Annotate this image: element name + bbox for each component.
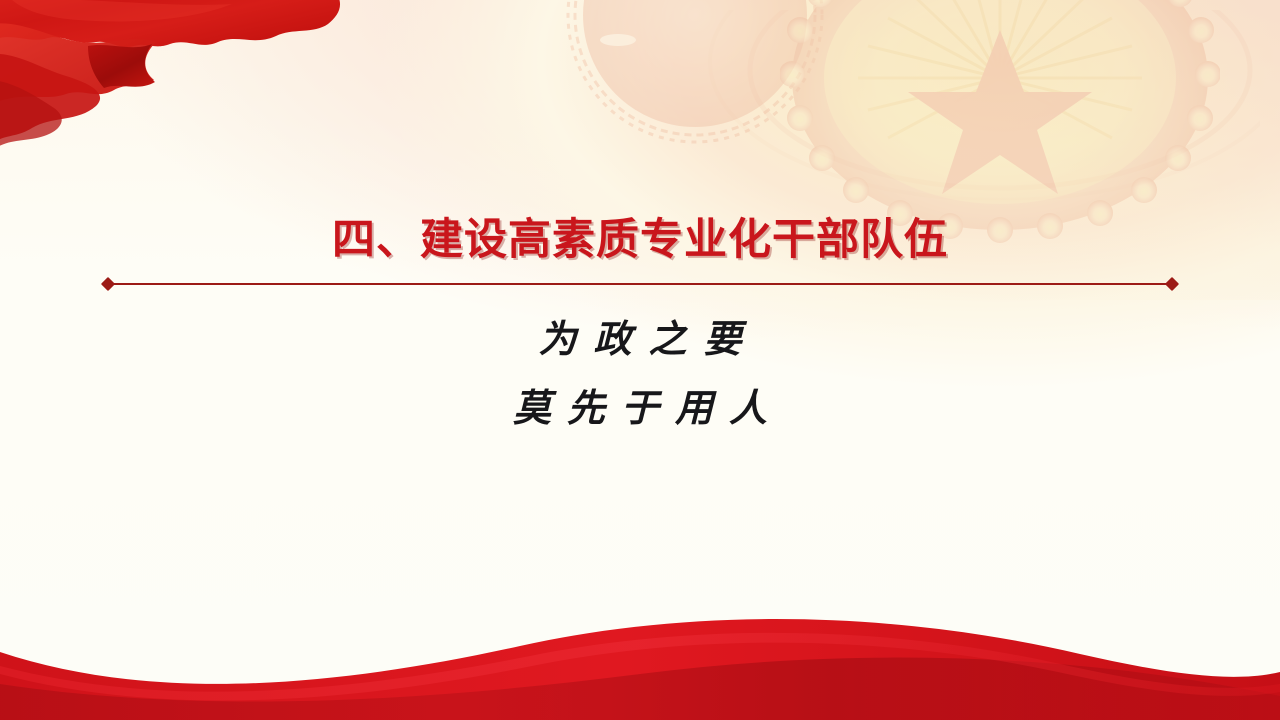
divider (103, 276, 1177, 292)
red-wave-decoration (0, 610, 1280, 720)
presentation-slide: 四、建设高素质专业化干部队伍 为政之要 莫先于用人 (0, 0, 1280, 720)
divider-diamond-right-icon (1165, 277, 1179, 291)
divider-line (111, 283, 1169, 285)
couplet-line-2: 莫先于用人 (0, 373, 1280, 442)
red-flag-decoration (0, 0, 412, 209)
page-title: 四、建设高素质专业化干部队伍 (0, 205, 1280, 267)
calligraphy-couplet: 为政之要 莫先于用人 (0, 304, 1280, 442)
couplet-line-1: 为政之要 (0, 304, 1280, 373)
